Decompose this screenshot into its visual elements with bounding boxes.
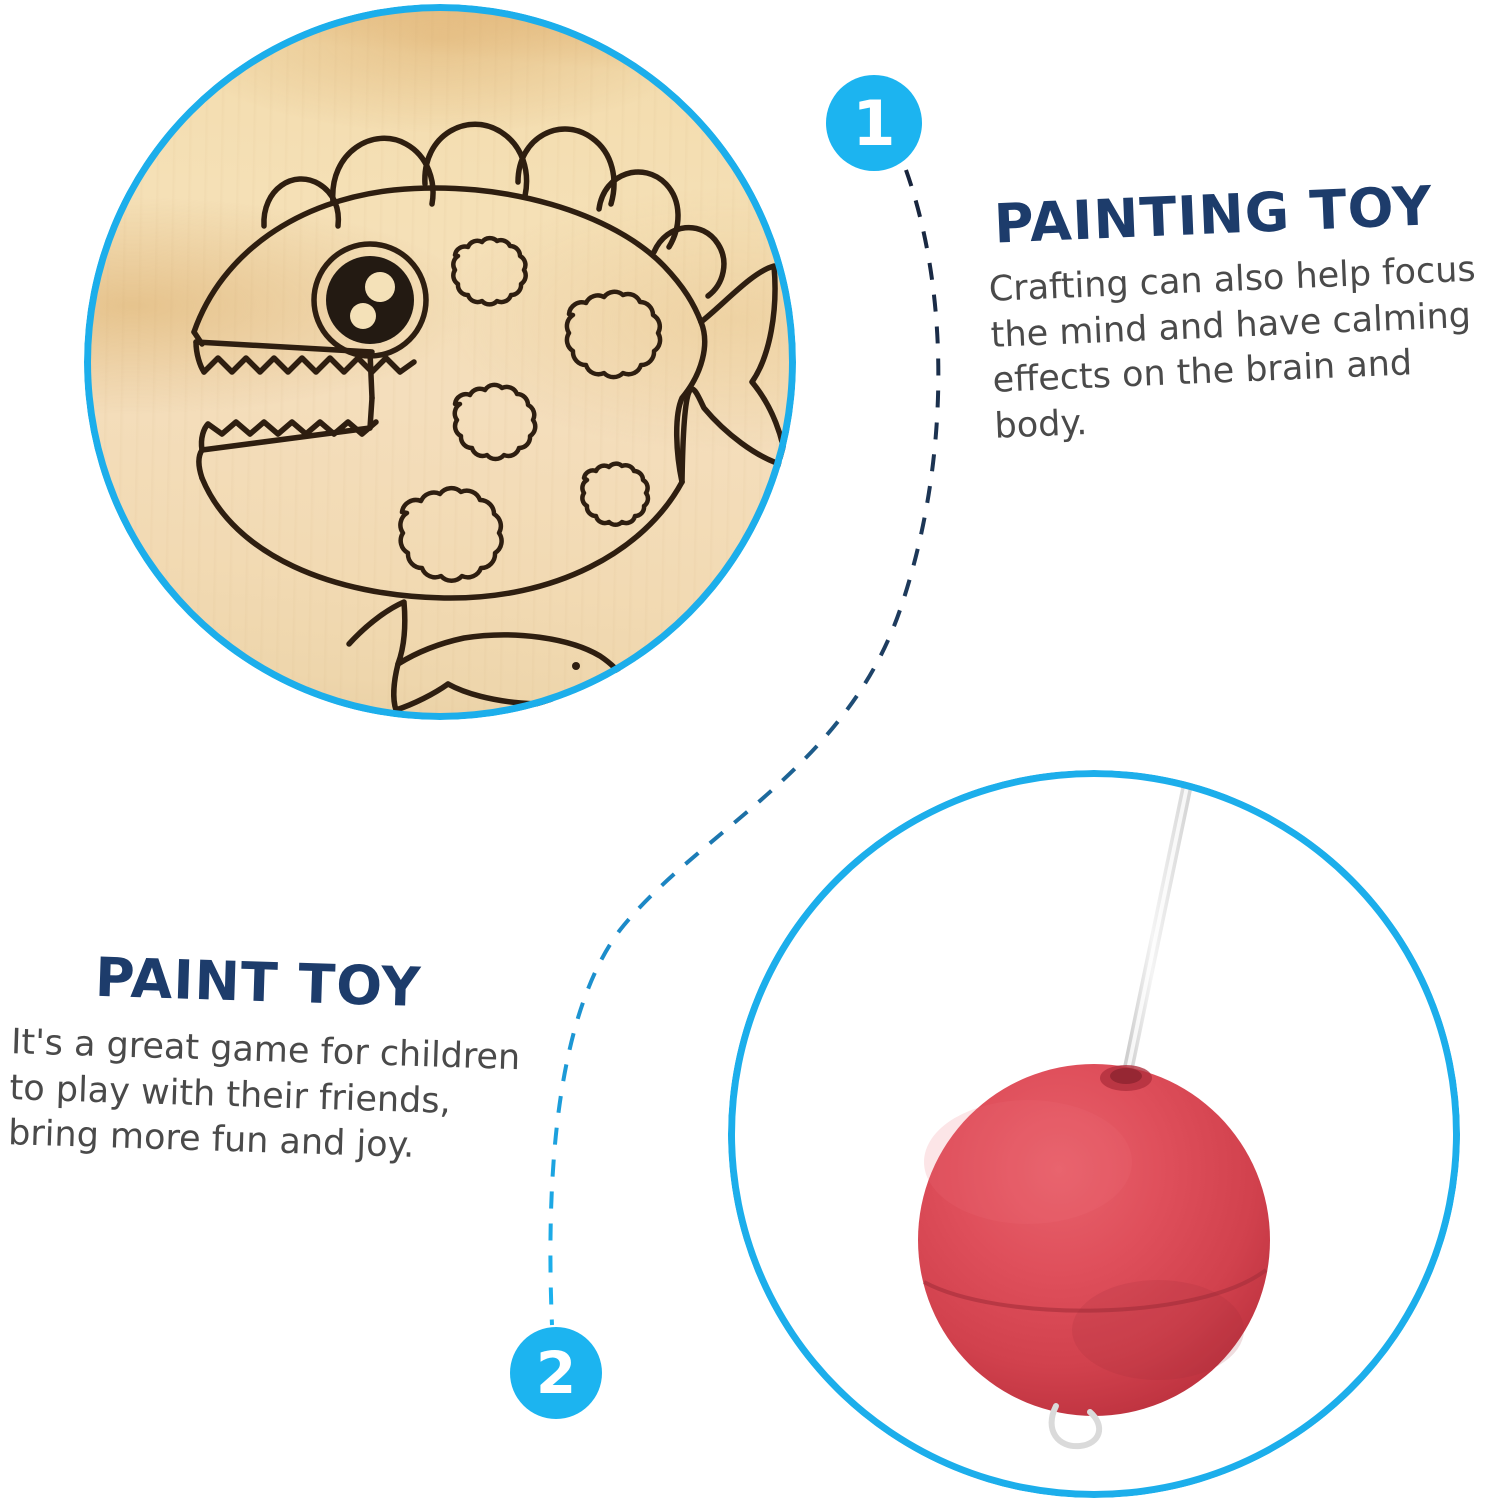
step-2-number: 2 — [536, 1339, 576, 1407]
feature-1-text-block: PAINTING TOY Crafting can also help focu… — [985, 176, 1499, 450]
step-1-number: 1 — [852, 87, 895, 160]
feature-2-body: It's a great game for children to play w… — [7, 1020, 525, 1173]
wooden-fish-drawing-photo — [84, 4, 796, 720]
red-paddle-ball-photo — [728, 770, 1460, 1498]
infographic-page: 1 PAINTING TOY Crafting can also help fo… — [0, 0, 1499, 1500]
step-1-badge: 1 — [826, 75, 922, 171]
feature-2-title: PAINT TOY — [94, 951, 527, 1019]
step-2-badge: 2 — [510, 1327, 602, 1419]
fish-line-art — [84, 4, 796, 720]
feature-2-text-block: PAINT TOY It's a great game for children… — [1, 948, 527, 1173]
feature-1-body: Crafting can also help focus the mind an… — [988, 246, 1499, 450]
ball-and-string-art — [728, 770, 1460, 1498]
feature-1-title: PAINTING TOY — [993, 176, 1499, 251]
